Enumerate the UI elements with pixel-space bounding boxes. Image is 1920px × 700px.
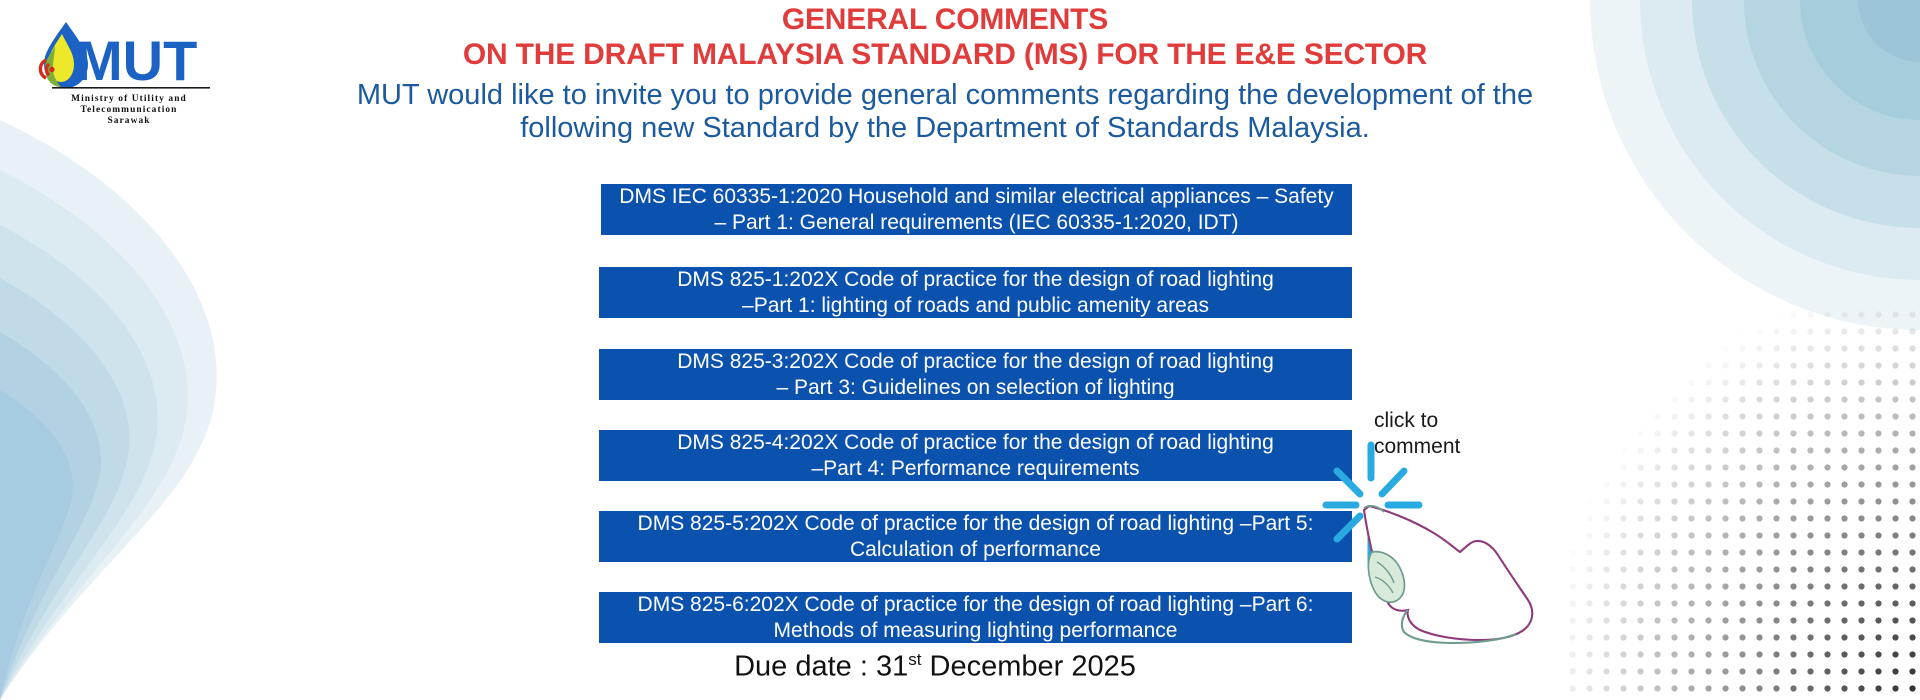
svg-text:Telecommunication: Telecommunication (81, 105, 178, 115)
page-title-line2: ON THE DRAFT MALAYSIA STANDARD (MS) FOR … (300, 37, 1590, 72)
svg-text:Sarawak: Sarawak (107, 116, 150, 126)
svg-text:MUT: MUT (76, 29, 197, 92)
due-date-rest: December 2025 (921, 651, 1135, 683)
standard-bar-dms-825-1[interactable]: DMS 825-1:202X Code of practice for the … (599, 267, 1352, 318)
page-title-line1: GENERAL COMMENTS (300, 2, 1590, 37)
mut-logo: MUT Ministry of Utility and Telecommunic… (22, 14, 237, 126)
standard-line2: –Part 4: Performance requirements (609, 456, 1342, 482)
standard-line2: Methods of measuring lighting performanc… (609, 618, 1342, 644)
standard-line1: DMS 825-1:202X Code of practice for the … (609, 267, 1342, 293)
svg-text:Ministry of Utility and: Ministry of Utility and (71, 94, 187, 104)
standard-line1: DMS 825-4:202X Code of practice for the … (609, 430, 1342, 456)
standard-line1: DMS 825-6:202X Code of practice for the … (609, 592, 1342, 618)
standard-line2: –Part 1: lighting of roads and public am… (609, 293, 1342, 319)
subtitle-line1: MUT would like to invite you to provide … (357, 79, 1533, 111)
header-block: GENERAL COMMENTS ON THE DRAFT MALAYSIA S… (300, 2, 1590, 145)
click-note-line1: click to (1374, 409, 1438, 432)
standard-line2: Calculation of performance (609, 537, 1342, 563)
subtitle: MUT would like to invite you to provide … (300, 79, 1590, 146)
standard-line2: – Part 1: General requirements (IEC 6033… (611, 210, 1342, 236)
hand-outline-icon (1364, 506, 1532, 643)
standard-bar-dms-825-5[interactable]: DMS 825-5:202X Code of practice for the … (599, 511, 1352, 562)
subtitle-line2: following new Standard by the Department… (520, 112, 1370, 144)
standard-bar-dms-iec-60335-1[interactable]: DMS IEC 60335-1:2020 Household and simil… (601, 184, 1352, 235)
standard-bar-dms-825-6[interactable]: DMS 825-6:202X Code of practice for the … (599, 592, 1352, 643)
standard-line1: DMS 825-5:202X Code of practice for the … (609, 511, 1342, 537)
pointing-hand-illustration (1320, 440, 1590, 650)
due-date-text: Due date : 31st December 2025 (0, 650, 1870, 684)
standard-line2: – Part 3: Guidelines on selection of lig… (609, 375, 1342, 401)
right-arc-shapes (1590, 0, 1920, 330)
standard-line1: DMS 825-3:202X Code of practice for the … (609, 349, 1342, 375)
standard-line1: DMS IEC 60335-1:2020 Household and simil… (611, 184, 1342, 210)
banner-canvas: MUT Ministry of Utility and Telecommunic… (0, 0, 1920, 700)
due-date-ordinal: st (908, 650, 921, 669)
standard-bar-dms-825-3[interactable]: DMS 825-3:202X Code of practice for the … (599, 349, 1352, 400)
standard-bar-dms-825-4[interactable]: DMS 825-4:202X Code of practice for the … (599, 430, 1352, 481)
left-wave-shapes (0, 120, 217, 700)
due-date-label: Due date : 31 (734, 651, 908, 683)
halftone-dot-pattern (1560, 300, 1920, 700)
